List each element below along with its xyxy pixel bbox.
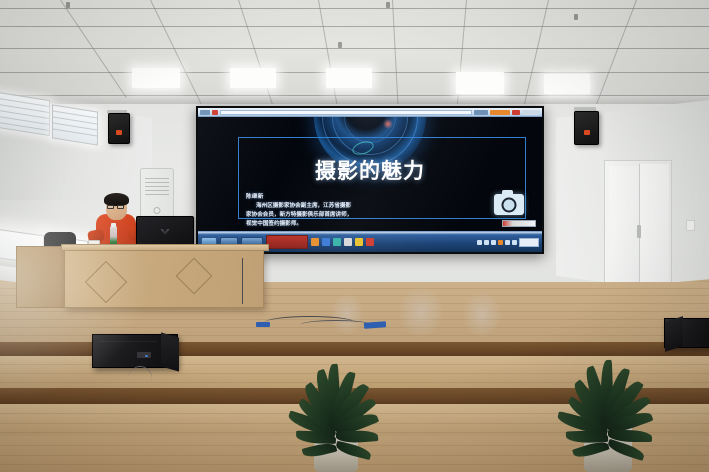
presenter-glasses-right [117, 205, 124, 209]
slide-speaker-block: 陈继新 海州区摄影家协会副主席，江苏省摄影 家协会会员，新方特摄影俱乐部首席讲师… [246, 193, 421, 229]
door-left-leaf[interactable] [609, 166, 639, 286]
lecture-hall-photo: SHUTTER 摄影的魅力 陈继新 海州区摄影家协会副主席，江苏省摄影 家协会会… [0, 0, 709, 472]
wall-speaker-right [574, 111, 599, 145]
address-bar[interactable] [220, 110, 472, 115]
app-icon[interactable] [311, 238, 319, 246]
speaker-bio-line-2: 家协会会员，新方特摄影俱乐部首席讲师， [246, 211, 421, 220]
toolbar-accent-button[interactable] [490, 110, 510, 115]
ceiling-light [544, 74, 590, 94]
cable-connector-2 [256, 322, 270, 327]
app-icon[interactable] [355, 238, 363, 246]
speaker-name: 陈继新 [246, 193, 421, 202]
system-tray[interactable] [477, 238, 539, 247]
lectern-diamond-inlay [85, 261, 127, 303]
presentation-slide: SHUTTER 摄影的魅力 陈继新 海州区摄影家协会副主席，江苏省摄影 家协会会… [198, 117, 542, 231]
camera-icon [494, 194, 524, 215]
speaker-bio-line-1: 海州区摄影家协会副主席，江苏省摄影 [246, 202, 421, 211]
ceiling-light [456, 72, 504, 94]
lectern-diamond-inlay [176, 258, 213, 295]
ceiling-light [230, 68, 276, 88]
window-upper-left-2 [52, 104, 98, 145]
lectern-cable [242, 258, 258, 304]
ceiling-light [326, 68, 372, 88]
floor-cable-2 [300, 320, 372, 330]
sprinkler-head [338, 42, 342, 48]
bottle-cap [111, 223, 116, 227]
stage-monitor-left [92, 334, 178, 368]
suspended-ceiling [0, 0, 709, 118]
wall-speaker-left [108, 113, 130, 144]
potted-plant-right [538, 330, 678, 472]
sprinkler-head [386, 2, 390, 8]
slide-title: 摄影的魅力 [198, 161, 542, 182]
window-upper-left [0, 92, 50, 136]
presenter-glasses-left [107, 205, 114, 209]
speaker-bio-line-3: 视觉中国签约摄影师。 [246, 220, 421, 229]
led-display-screen[interactable]: SHUTTER 摄影的魅力 陈继新 海州区摄影家协会副主席，江苏省摄影 家协会会… [196, 106, 544, 254]
sprinkler-head [574, 14, 578, 20]
app-icon[interactable] [322, 238, 330, 246]
jbl-logo [116, 130, 122, 135]
taskbar-active-window[interactable] [266, 235, 308, 249]
laptop-logo [160, 229, 170, 235]
door-handle[interactable] [637, 225, 641, 238]
app-icon[interactable] [333, 238, 341, 246]
light-switch[interactable] [686, 220, 695, 231]
slide-corner-badge [502, 220, 536, 227]
jbl-logo [584, 130, 590, 135]
lectern-side-panel [16, 246, 68, 308]
ceiling-light [132, 68, 180, 88]
sprinkler-head [66, 2, 70, 8]
wooden-lectern[interactable] [64, 248, 264, 308]
app-icon[interactable] [366, 238, 374, 246]
app-icon[interactable] [344, 238, 352, 246]
lectern-top-edge [61, 244, 269, 251]
browser-toolbar[interactable] [198, 108, 542, 117]
taskbar-clock[interactable] [519, 238, 539, 247]
door-right-leaf[interactable] [639, 164, 669, 286]
potted-plant-center [262, 336, 410, 472]
toolbar-close-button[interactable] [512, 110, 520, 115]
